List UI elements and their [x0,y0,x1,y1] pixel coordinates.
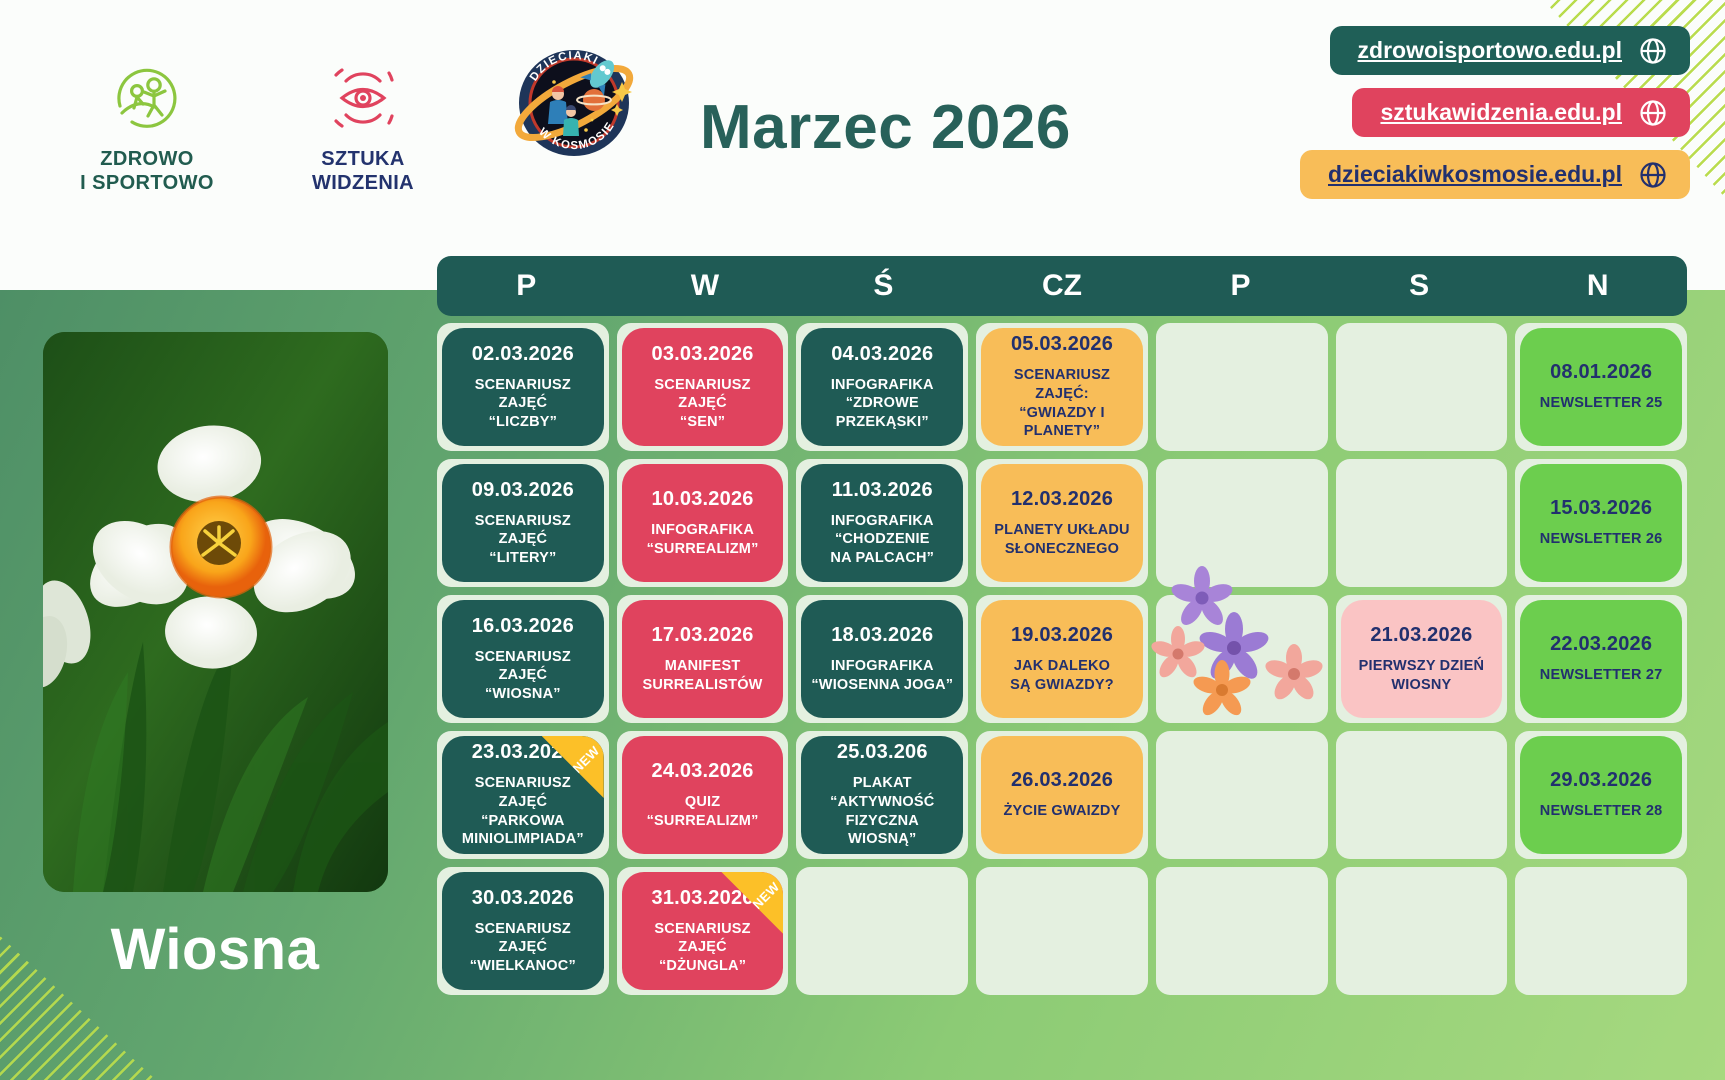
calendar-cell-date: 11.03.2026 [832,479,933,502]
globe-icon [1638,160,1668,190]
calendar-day-slot: 02.03.2026SCENARIUSZ ZAJĘĆ“LICZBY” [437,323,609,451]
link-sztukawidzenia-label: sztukawidzenia.edu.pl [1380,99,1622,126]
day-of-week-header: P W Ś CZ P S N [437,256,1687,316]
calendar-day-slot: 19.03.2026JAK DALEKOSĄ GWIAZDY? [976,595,1148,723]
link-zdrowoisportowo[interactable]: zdrowoisportowo.edu.pl [1330,26,1690,75]
calendar-cell-description: QUIZ “SURREALIZM” [630,793,776,830]
calendar-event-cell[interactable]: 31.03.2026SCENARIUSZ ZAJĘĆ“DŻUNGLA”NEW [622,872,784,990]
dow-tue: W [616,269,795,303]
poster-header: ZDROWO I SPORTOWO [0,0,1725,290]
calendar-day-slot [1336,731,1508,859]
calendar-cell-empty [1341,464,1503,582]
calendar-cell-description: NEWSLETTER 26 [1540,530,1663,549]
logo-group: ZDROWO I SPORTOWO [72,60,644,195]
calendar-cell-date: 16.03.2026 [472,615,574,638]
calendar-cell-date: 18.03.2026 [831,624,933,647]
calendar-cell-date: 05.03.2026 [1011,333,1113,356]
calendar-cell-date: 25.03.206 [837,741,928,764]
calendar-cell-empty [981,872,1143,990]
link-zdrowoisportowo-label: zdrowoisportowo.edu.pl [1358,37,1622,64]
calendar-day-slot [1156,867,1328,995]
logo-sztuka-widzenia: SZTUKA WIDZENIA [288,60,438,195]
calendar-cell-date: 29.03.2026 [1550,769,1652,792]
calendar-event-cell[interactable]: 10.03.2026INFOGRAFIKA“SURREALIZM” [622,464,784,582]
calendar-day-slot: 22.03.2026NEWSLETTER 27 [1515,595,1687,723]
calendar-grid: P W Ś CZ P S N 02.03.2026SCENARIUSZ ZAJĘ… [437,256,1687,1003]
calendar-event-cell[interactable]: 17.03.2026MANIFESTSURREALISTÓW [622,600,784,718]
dzieciaki-w-kosmosie-icon: DZIECIAKI W KOSMOSIE [504,42,644,164]
dow-wed: Ś [794,269,973,303]
calendar-cell-description: NEWSLETTER 28 [1540,802,1663,821]
calendar-cell-description: PLANETY UKŁADUSŁONECZNEGO [994,521,1129,558]
logo-zdrowo-i-sportowo-label: ZDROWO I SPORTOWO [72,148,222,195]
calendar-day-slot [1156,323,1328,451]
calendar-cell-date: 31.03.2026 [652,887,754,910]
calendar-day-slot: 05.03.2026SCENARIUSZ ZAJĘĆ:“GWIAZDY I PL… [976,323,1148,451]
dow-mon: P [437,269,616,303]
calendar-event-cell[interactable]: 26.03.2026ŻYCIE GWAIZDY [981,736,1143,854]
calendar-cell-empty [1341,736,1503,854]
calendar-cell-description: SCENARIUSZ ZAJĘĆ“PARKOWAMINIOLIMPIADA” [450,774,596,848]
calendar-day-slot: 09.03.2026SCENARIUSZ ZAJĘĆ“LITERY” [437,459,609,587]
calendar-event-cell[interactable]: 12.03.2026PLANETY UKŁADUSŁONECZNEGO [981,464,1143,582]
calendar-cell-description: SCENARIUSZ ZAJĘĆ“DŻUNGLA” [630,920,776,976]
calendar-event-cell[interactable]: 09.03.2026SCENARIUSZ ZAJĘĆ“LITERY” [442,464,604,582]
calendar-event-cell[interactable]: 29.03.2026NEWSLETTER 28 [1520,736,1682,854]
calendar-cell-description: INFOGRAFIKA“CHODZENIENA PALCACH” [830,512,934,568]
calendar-cell-date: 08.01.2026 [1550,361,1652,384]
season-panel: Wiosna [0,290,430,1080]
calendar-cell-date: 19.03.2026 [1011,624,1113,647]
link-dzieciakiwkosmosie-label: dzieciakiwkosmosie.edu.pl [1328,161,1622,188]
calendar-day-slot [976,867,1148,995]
calendar-event-cell[interactable]: 16.03.2026SCENARIUSZ ZAJĘĆ“WIOSNA” [442,600,604,718]
calendar-day-slot: 30.03.2026SCENARIUSZ ZAJĘĆ“WIELKANOC” [437,867,609,995]
calendar-day-slot: 18.03.2026INFOGRAFIKA“WIOSENNA JOGA” [796,595,968,723]
calendar-cell-empty [801,872,963,990]
season-label: Wiosna [111,916,320,983]
calendar-cell-empty [1161,464,1323,582]
calendar-cell-description: SCENARIUSZ ZAJĘĆ:“GWIAZDY I PLANETY” [989,366,1135,440]
calendar-day-slot [796,867,968,995]
calendar-event-cell[interactable]: 18.03.2026INFOGRAFIKA“WIOSENNA JOGA” [801,600,963,718]
logo-zdrowo-i-sportowo: ZDROWO I SPORTOWO [72,60,222,195]
dow-sat: S [1330,269,1509,303]
calendar-cell-description: INFOGRAFIKA“WIOSENNA JOGA” [811,657,953,694]
calendar-cell-description: SCENARIUSZ ZAJĘĆ“SEN” [630,376,776,432]
calendar-cell-empty [1161,328,1323,446]
calendar-cell-description: SCENARIUSZ ZAJĘĆ“WIOSNA” [450,648,596,704]
calendar-day-slot: 12.03.2026PLANETY UKŁADUSŁONECZNEGO [976,459,1148,587]
calendar-cell-description: SCENARIUSZ ZAJĘĆ“LITERY” [450,512,596,568]
calendar-event-cell[interactable]: 02.03.2026SCENARIUSZ ZAJĘĆ“LICZBY” [442,328,604,446]
calendar-cell-date: 30.03.2026 [472,887,574,910]
calendar-cell-description: SCENARIUSZ ZAJĘĆ“LICZBY” [450,376,596,432]
calendar-cell-empty [1161,736,1323,854]
calendar-cell-date: 26.03.2026 [1011,769,1113,792]
website-links: zdrowoisportowo.edu.pl sztukawidzenia.ed… [1300,26,1690,199]
calendar-event-cell[interactable]: 23.03.2026SCENARIUSZ ZAJĘĆ“PARKOWAMINIOL… [442,736,604,854]
zdrowo-i-sportowo-icon [72,60,222,136]
calendar-day-slot: 21.03.2026PIERWSZY DZIEŃWIOSNY [1336,595,1508,723]
calendar-event-cell[interactable]: 30.03.2026SCENARIUSZ ZAJĘĆ“WIELKANOC” [442,872,604,990]
calendar-event-cell[interactable]: 25.03.206PLAKAT“AKTYWNOŚĆ FIZYCZNAWIOSNĄ… [801,736,963,854]
calendar-week-row: 23.03.2026SCENARIUSZ ZAJĘĆ“PARKOWAMINIOL… [437,731,1687,859]
calendar-poster: ZDROWO I SPORTOWO [0,0,1725,1080]
calendar-event-cell[interactable]: 11.03.2026INFOGRAFIKA“CHODZENIENA PALCAC… [801,464,963,582]
dow-sun: N [1508,269,1687,303]
calendar-week-row: 16.03.2026SCENARIUSZ ZAJĘĆ“WIOSNA”17.03.… [437,595,1687,723]
calendar-cell-date: 03.03.2026 [652,343,754,366]
calendar-cell-date: 09.03.2026 [472,479,574,502]
logo-sztuka-widzenia-label: SZTUKA WIDZENIA [288,148,438,195]
page-title: Marzec 2026 [700,92,1071,163]
calendar-cell-description: NEWSLETTER 27 [1540,666,1663,685]
calendar-cell-description: ŻYCIE GWAIZDY [1003,802,1120,821]
calendar-day-slot: 23.03.2026SCENARIUSZ ZAJĘĆ“PARKOWAMINIOL… [437,731,609,859]
calendar-cell-empty [1161,872,1323,990]
calendar-day-slot: 17.03.2026MANIFESTSURREALISTÓW [617,595,789,723]
new-badge-label: NEW [569,743,602,776]
calendar-cell-date: 10.03.2026 [652,488,754,511]
calendar-cell-description: MANIFESTSURREALISTÓW [643,657,763,694]
calendar-day-slot: 25.03.206PLAKAT“AKTYWNOŚĆ FIZYCZNAWIOSNĄ… [796,731,968,859]
calendar-day-slot: 31.03.2026SCENARIUSZ ZAJĘĆ“DŻUNGLA”NEW [617,867,789,995]
calendar-cell-date: 12.03.2026 [1011,488,1113,511]
calendar-cell-date: 02.03.2026 [472,343,574,366]
calendar-cell-description: INFOGRAFIKA“ZDROWE PRZEKĄSKI” [809,376,955,432]
calendar-event-cell[interactable]: 03.03.2026SCENARIUSZ ZAJĘĆ“SEN” [622,328,784,446]
link-sztukawidzenia[interactable]: sztukawidzenia.edu.pl [1352,88,1690,137]
link-dzieciakiwkosmosie[interactable]: dzieciakiwkosmosie.edu.pl [1300,150,1690,199]
calendar-event-cell[interactable]: 15.03.2026NEWSLETTER 26 [1520,464,1682,582]
calendar-day-slot [1515,867,1687,995]
calendar-day-slot: 11.03.2026INFOGRAFIKA“CHODZENIENA PALCAC… [796,459,968,587]
calendar-cell-date: 04.03.2026 [831,343,933,366]
calendar-day-slot: 24.03.2026QUIZ “SURREALIZM” [617,731,789,859]
globe-icon [1638,36,1668,66]
calendar-day-slot [1156,595,1328,723]
calendar-day-slot: 29.03.2026NEWSLETTER 28 [1515,731,1687,859]
calendar-week-row: 02.03.2026SCENARIUSZ ZAJĘĆ“LICZBY”03.03.… [437,323,1687,451]
calendar-event-cell[interactable]: 04.03.2026INFOGRAFIKA“ZDROWE PRZEKĄSKI” [801,328,963,446]
calendar-cell-description: NEWSLETTER 25 [1540,394,1663,413]
calendar-cell-empty [1341,328,1503,446]
calendar-cell-description: INFOGRAFIKA“SURREALIZM” [647,521,759,558]
dow-thu: CZ [973,269,1152,303]
calendar-day-slot [1336,867,1508,995]
eye-icon [288,60,438,136]
calendar-day-slot: 15.03.2026NEWSLETTER 26 [1515,459,1687,587]
calendar-cell-empty [1161,600,1323,718]
calendar-cell-description: SCENARIUSZ ZAJĘĆ“WIELKANOC” [450,920,596,976]
calendar-event-cell[interactable]: 05.03.2026SCENARIUSZ ZAJĘĆ:“GWIAZDY I PL… [981,328,1143,446]
globe-icon [1638,98,1668,128]
calendar-cell-description: PIERWSZY DZIEŃWIOSNY [1359,657,1485,694]
calendar-cell-empty [1341,872,1503,990]
calendar-week-row: 30.03.2026SCENARIUSZ ZAJĘĆ“WIELKANOC”31.… [437,867,1687,995]
calendar-event-cell[interactable]: 21.03.2026PIERWSZY DZIEŃWIOSNY [1341,600,1503,718]
calendar-event-cell[interactable]: 24.03.2026QUIZ “SURREALIZM” [622,736,784,854]
calendar-day-slot: 03.03.2026SCENARIUSZ ZAJĘĆ“SEN” [617,323,789,451]
calendar-weeks: 02.03.2026SCENARIUSZ ZAJĘĆ“LICZBY”03.03.… [437,323,1687,995]
calendar-day-slot [1156,459,1328,587]
calendar-day-slot: 10.03.2026INFOGRAFIKA“SURREALIZM” [617,459,789,587]
calendar-event-cell[interactable]: 22.03.2026NEWSLETTER 27 [1520,600,1682,718]
calendar-day-slot [1156,731,1328,859]
calendar-cell-date: 15.03.2026 [1550,497,1652,520]
calendar-cell-empty [1520,872,1682,990]
calendar-cell-date: 21.03.2026 [1370,624,1472,647]
calendar-day-slot: 26.03.2026ŻYCIE GWAIZDY [976,731,1148,859]
calendar-day-slot: 04.03.2026INFOGRAFIKA“ZDROWE PRZEKĄSKI” [796,323,968,451]
calendar-day-slot [1336,323,1508,451]
logo-dzieciaki-w-kosmosie: DZIECIAKI W KOSMOSIE [504,42,644,162]
calendar-day-slot [1336,459,1508,587]
new-badge-label: NEW [749,879,782,912]
calendar-event-cell[interactable]: 08.01.2026NEWSLETTER 25 [1520,328,1682,446]
calendar-event-cell[interactable]: 19.03.2026JAK DALEKOSĄ GWIAZDY? [981,600,1143,718]
calendar-cell-description: JAK DALEKOSĄ GWIAZDY? [1010,657,1114,694]
calendar-cell-description: PLAKAT“AKTYWNOŚĆ FIZYCZNAWIOSNĄ” [809,774,955,848]
calendar-cell-date: 24.03.2026 [652,760,754,783]
calendar-day-slot: 08.01.2026NEWSLETTER 25 [1515,323,1687,451]
season-photo [43,332,388,892]
calendar-cell-date: 17.03.2026 [652,624,754,647]
dow-fri: P [1151,269,1330,303]
calendar-day-slot: 16.03.2026SCENARIUSZ ZAJĘĆ“WIOSNA” [437,595,609,723]
calendar-week-row: 09.03.2026SCENARIUSZ ZAJĘĆ“LITERY”10.03.… [437,459,1687,587]
calendar-cell-date: 22.03.2026 [1550,633,1652,656]
